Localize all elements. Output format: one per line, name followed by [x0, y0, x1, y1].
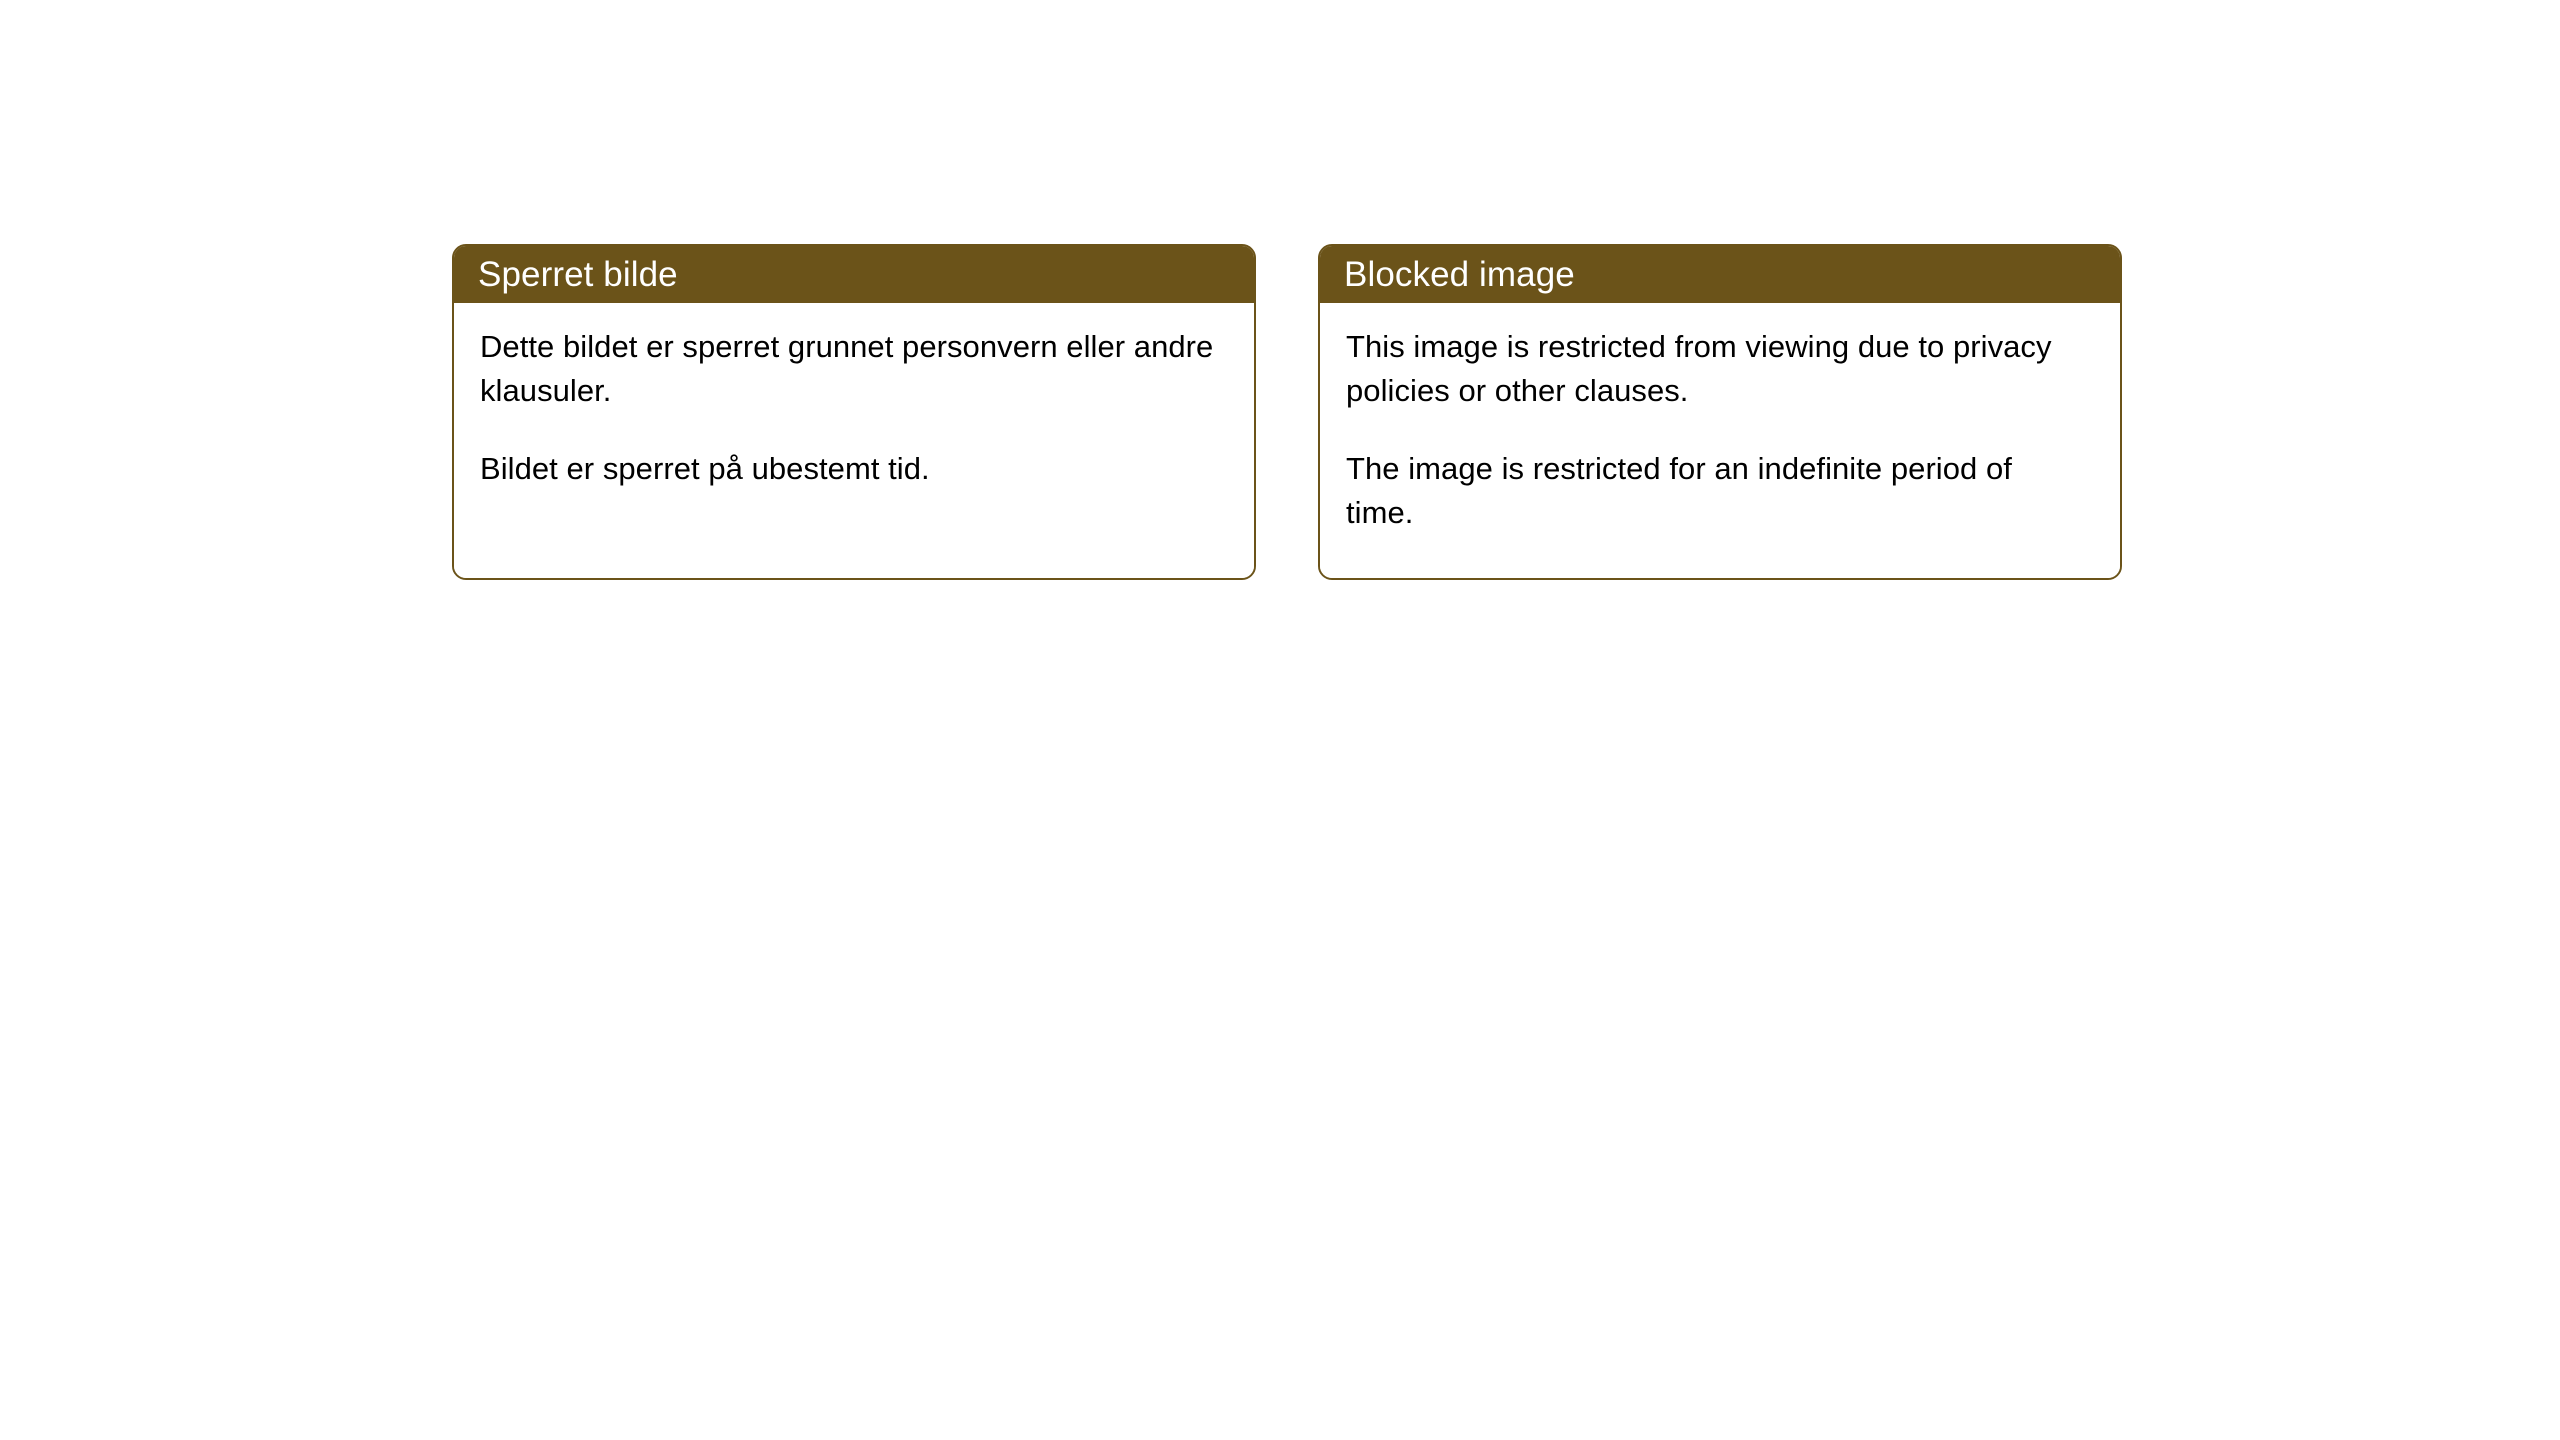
blocked-image-panel-english: Blocked image This image is restricted f…: [1318, 244, 2122, 580]
notice-paragraph: The image is restricted for an indefinit…: [1346, 447, 2086, 535]
page-root: Sperret bilde Dette bildet er sperret gr…: [0, 0, 2560, 1440]
notice-paragraph: Dette bildet er sperret grunnet personve…: [480, 325, 1220, 413]
panel-header-norwegian: Sperret bilde: [454, 246, 1254, 303]
panel-title-norwegian: Sperret bilde: [478, 257, 678, 292]
panel-body-english: This image is restricted from viewing du…: [1320, 303, 2120, 578]
panel-body-norwegian: Dette bildet er sperret grunnet personve…: [454, 303, 1254, 578]
notice-paragraph: This image is restricted from viewing du…: [1346, 325, 2086, 413]
blocked-image-panel-norwegian: Sperret bilde Dette bildet er sperret gr…: [452, 244, 1256, 580]
notice-paragraph: Bildet er sperret på ubestemt tid.: [480, 447, 1220, 491]
notice-panel-group: Sperret bilde Dette bildet er sperret gr…: [452, 244, 2122, 580]
panel-header-english: Blocked image: [1320, 246, 2120, 303]
panel-title-english: Blocked image: [1344, 257, 1575, 292]
